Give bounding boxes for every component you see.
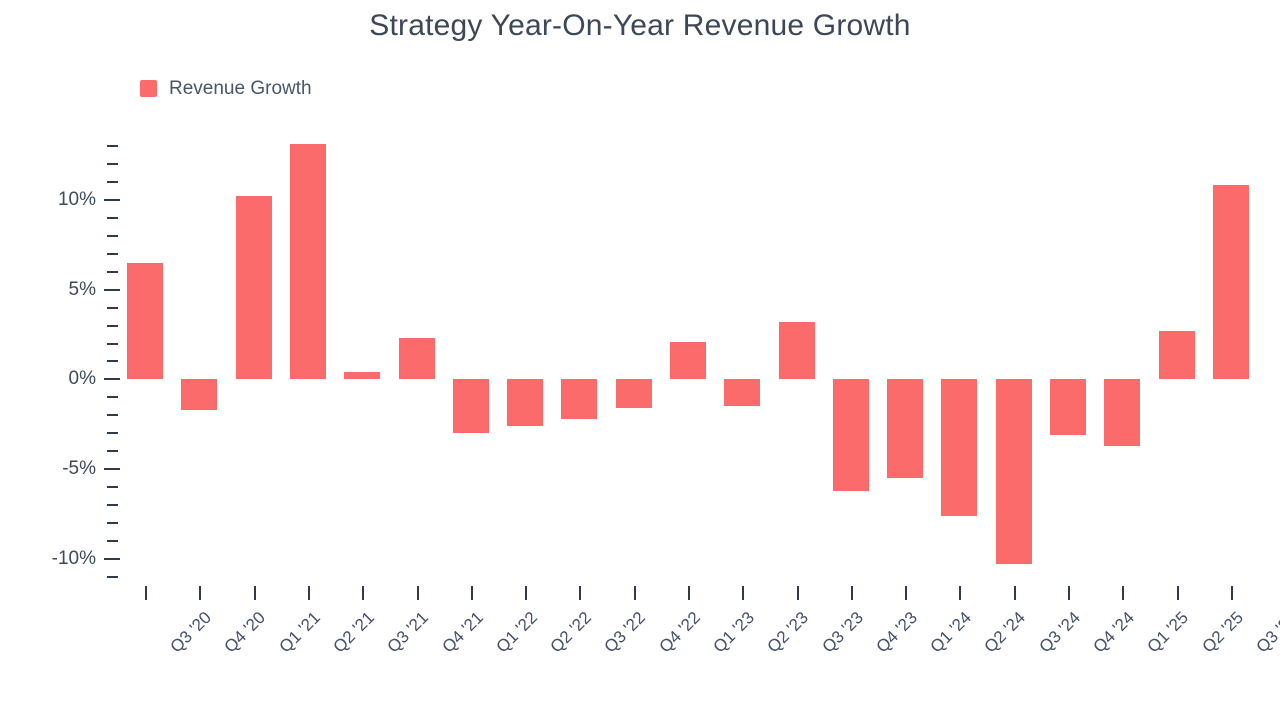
x-axis-label: Q2 '24 <box>981 608 1030 657</box>
bar[interactable] <box>887 379 923 478</box>
y-axis-label: -5% <box>62 458 96 480</box>
bar[interactable] <box>779 322 815 379</box>
y-axis-label: 0% <box>69 368 96 390</box>
bar[interactable] <box>1159 331 1195 379</box>
x-axis-tick <box>1014 586 1016 600</box>
bar[interactable] <box>833 379 869 490</box>
y-axis-minor-tick <box>107 450 118 452</box>
x-axis-tick <box>1231 586 1233 600</box>
x-axis-label: Q3 '20 <box>167 608 216 657</box>
x-axis-label: Q3 '24 <box>1035 608 1084 657</box>
x-axis-tick <box>742 586 744 600</box>
x-axis-label: Q4 '22 <box>655 608 704 657</box>
y-axis: -10%-5%0%5%10% <box>0 128 120 586</box>
y-axis-minor-tick <box>107 163 118 165</box>
x-axis-label: Q2 '22 <box>547 608 596 657</box>
y-axis-label: 10% <box>58 189 96 211</box>
x-axis-label: Q4 '23 <box>872 608 921 657</box>
x-axis-tick <box>1177 586 1179 600</box>
bar[interactable] <box>616 379 652 408</box>
x-axis-tick <box>1068 586 1070 600</box>
x-axis-tick <box>634 586 636 600</box>
x-axis-tick <box>959 586 961 600</box>
bar[interactable] <box>290 144 326 379</box>
x-axis-label: Q3 '23 <box>818 608 867 657</box>
bar[interactable] <box>1104 379 1140 445</box>
x-axis-label: Q4 '24 <box>1090 608 1139 657</box>
y-axis-minor-tick <box>107 522 118 524</box>
x-axis-label: Q3 '25 <box>1252 608 1280 657</box>
legend-square-marker <box>140 80 157 97</box>
y-axis-minor-tick <box>107 396 118 398</box>
y-axis-minor-tick <box>107 271 118 273</box>
chart-title: Strategy Year-On-Year Revenue Growth <box>0 4 1280 48</box>
x-axis: Q3 '20Q4 '20Q1 '21Q2 '21Q3 '21Q4 '21Q1 '… <box>118 586 1258 720</box>
y-axis-minor-tick <box>107 486 118 488</box>
x-axis-tick <box>797 586 799 600</box>
x-axis-tick <box>688 586 690 600</box>
bar[interactable] <box>236 196 272 379</box>
y-axis-minor-tick <box>107 343 118 345</box>
x-axis-label: Q1 '22 <box>492 608 541 657</box>
x-axis-tick <box>308 586 310 600</box>
x-axis-tick <box>362 586 364 600</box>
x-axis-label: Q3 '22 <box>601 608 650 657</box>
bar[interactable] <box>507 379 543 426</box>
bar[interactable] <box>724 379 760 406</box>
x-axis-label: Q4 '20 <box>221 608 270 657</box>
bar[interactable] <box>1050 379 1086 435</box>
bar[interactable] <box>1213 185 1249 379</box>
bar[interactable] <box>127 263 163 380</box>
y-axis-minor-tick <box>107 235 118 237</box>
bar[interactable] <box>941 379 977 516</box>
x-axis-tick <box>525 586 527 600</box>
x-axis-tick <box>199 586 201 600</box>
y-axis-minor-tick <box>107 253 118 255</box>
x-axis-tick <box>579 586 581 600</box>
x-axis-label: Q2 '25 <box>1198 608 1247 657</box>
y-axis-minor-tick <box>107 540 118 542</box>
bar[interactable] <box>399 338 435 379</box>
x-axis-label: Q2 '23 <box>764 608 813 657</box>
x-axis-tick <box>851 586 853 600</box>
x-axis-label: Q3 '21 <box>384 608 433 657</box>
y-axis-minor-tick <box>107 181 118 183</box>
x-axis-tick <box>145 586 147 600</box>
x-axis-label: Q1 '23 <box>710 608 759 657</box>
chart-container: Strategy Year-On-Year Revenue Growth Rev… <box>0 0 1280 720</box>
bar[interactable] <box>996 379 1032 564</box>
x-axis-tick <box>254 586 256 600</box>
y-axis-minor-tick <box>107 217 118 219</box>
y-axis-minor-tick <box>107 325 118 327</box>
bar[interactable] <box>453 379 489 433</box>
y-axis-label: -10% <box>52 548 96 570</box>
bar[interactable] <box>344 372 380 379</box>
y-axis-minor-tick <box>107 414 118 416</box>
x-axis-label: Q1 '21 <box>275 608 324 657</box>
bar[interactable] <box>561 379 597 419</box>
y-axis-minor-tick <box>107 307 118 309</box>
chart-legend: Revenue Growth <box>140 79 312 98</box>
x-axis-label: Q2 '21 <box>330 608 379 657</box>
y-axis-label: 5% <box>69 279 96 301</box>
bar-series <box>118 128 1258 586</box>
y-axis-minor-tick <box>107 576 118 578</box>
legend-item-label: Revenue Growth <box>169 79 312 98</box>
y-axis-minor-tick <box>107 360 118 362</box>
y-axis-minor-tick <box>107 504 118 506</box>
y-axis-minor-tick <box>107 432 118 434</box>
x-axis-label: Q1 '25 <box>1144 608 1193 657</box>
bar[interactable] <box>181 379 217 410</box>
x-axis-tick <box>471 586 473 600</box>
bar[interactable] <box>670 342 706 380</box>
x-axis-tick <box>417 586 419 600</box>
x-axis-tick <box>905 586 907 600</box>
x-axis-label: Q4 '21 <box>438 608 487 657</box>
y-axis-minor-tick <box>107 145 118 147</box>
x-axis-tick <box>1122 586 1124 600</box>
x-axis-label: Q1 '24 <box>927 608 976 657</box>
